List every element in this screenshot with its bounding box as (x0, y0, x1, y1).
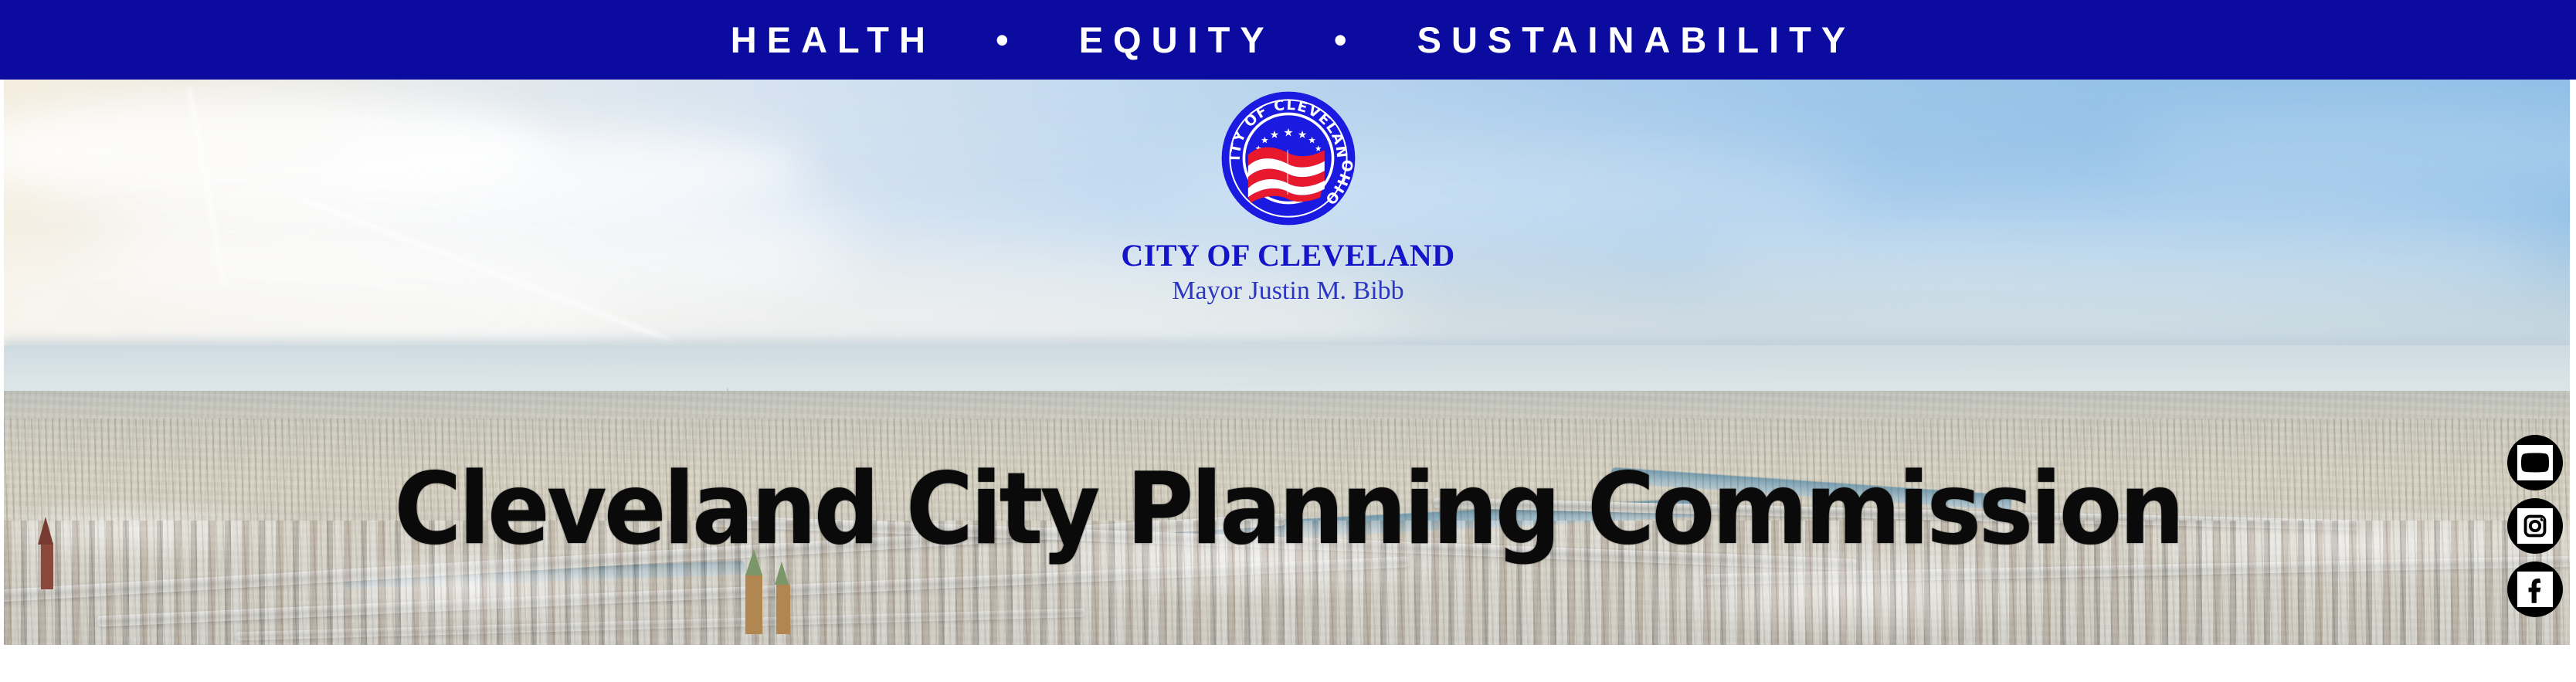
page-title: Cleveland City Planning Commission (90, 460, 2486, 559)
youtube-icon[interactable] (2507, 435, 2563, 490)
logo-title: CITY OF CLEVELAND (1121, 240, 1454, 271)
page-root: HEALTH • EQUITY • SUSTAINABILITY CITY OF… (0, 0, 2576, 682)
instagram-icon[interactable] (2507, 498, 2563, 554)
city-of-cleveland-seal-icon: CITY OF CLEVELAND OHIO (1219, 89, 1358, 228)
logo-subtitle: Mayor Justin M. Bibb (1172, 278, 1403, 304)
tagline-bar: HEALTH • EQUITY • SUSTAINABILITY (0, 0, 2576, 80)
city-logo-block: CITY OF CLEVELAND OHIO (0, 89, 2576, 304)
tagline-text: HEALTH • EQUITY • SUSTAINABILITY (721, 22, 1855, 58)
facebook-icon[interactable] (2507, 562, 2563, 617)
social-links (2507, 435, 2563, 617)
